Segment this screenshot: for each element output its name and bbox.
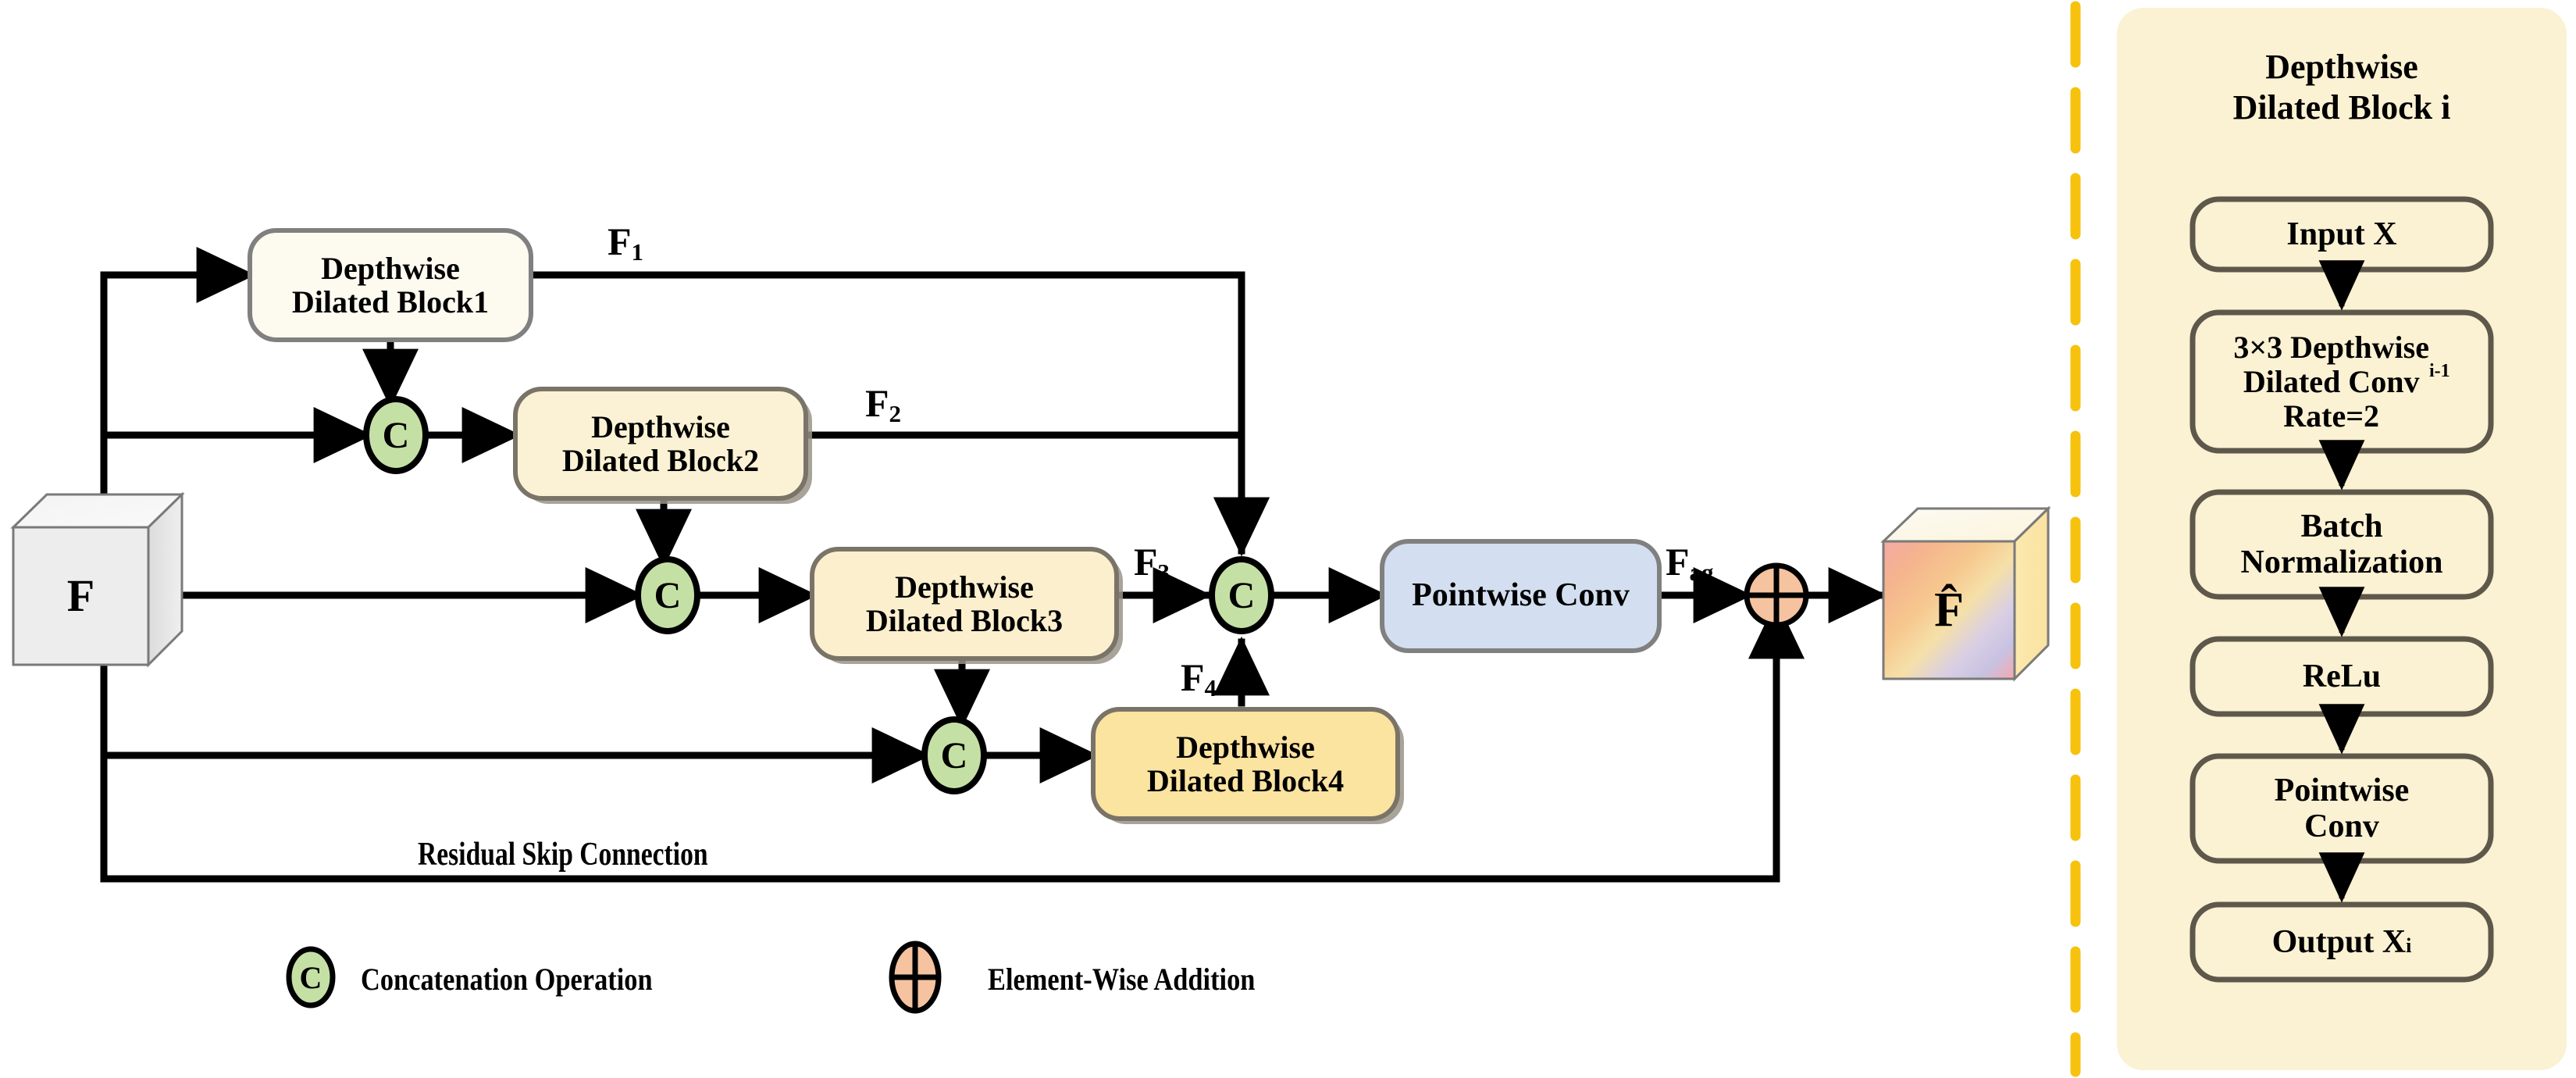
concat-node-1-glyph: C: [366, 399, 426, 471]
wire-block2-to-concat-main-F2: [804, 435, 1242, 551]
panel-node-dwconv-text: 3×3 Depthwise Dilated Conv Rate=2: [2233, 330, 2429, 434]
panel-node-dwconv-label: 3×3 Depthwise Dilated Conv Rate=2i-1: [2193, 312, 2491, 451]
panel-title: Depthwise Dilated Block i: [2132, 47, 2551, 128]
legend-add-label: Element-Wise Addition: [988, 961, 1255, 998]
feature-label-f3: F3: [1134, 539, 1170, 584]
concat-node-2-glyph: C: [638, 559, 697, 631]
legend-concat-label: Concatenation Operation: [361, 961, 653, 998]
add-node[interactable]: [1747, 566, 1806, 625]
panel-node-input-label: Input X: [2193, 199, 2491, 269]
feature-label-f2: F2: [865, 380, 901, 426]
diagram-canvas: F F̂ Depthwise Dilated Block1 Depthwise …: [0, 0, 2576, 1078]
output-feature-cube: [1883, 509, 2048, 679]
panel-node-pwconv-label: Pointwise Conv: [2193, 756, 2491, 861]
block1-shape[interactable]: [250, 230, 531, 340]
panel-node-output-subscript: i: [2406, 935, 2411, 958]
block2-shape[interactable]: [515, 389, 806, 498]
legend-concat-glyph: C: [289, 949, 333, 1005]
panel-node-dwconv-exponent: i-1: [2429, 361, 2450, 381]
diagram-svg: [0, 0, 2576, 1078]
panel-node-bn-label: Batch Normalization: [2193, 492, 2491, 597]
block3-shape[interactable]: [812, 549, 1117, 659]
residual-skip-label: Residual Skip Connection: [418, 836, 708, 873]
legend-add-icon: [892, 944, 939, 1011]
panel-node-relu-label: ReLu: [2193, 639, 2491, 714]
panel-node-output-label: Output Xi: [2193, 905, 2491, 980]
concat-node-main-glyph: C: [1212, 559, 1271, 631]
feature-label-fag: Fag: [1666, 539, 1714, 584]
block4-shape[interactable]: [1093, 709, 1398, 819]
input-feature-cube: [13, 494, 182, 665]
panel-node-output-text: Output X: [2272, 924, 2407, 960]
feature-label-f1: F1: [607, 219, 643, 264]
feature-label-f4: F4: [1181, 655, 1217, 700]
concat-node-3-glyph: C: [925, 719, 984, 791]
pointwise-conv-shape[interactable]: [1382, 541, 1659, 651]
